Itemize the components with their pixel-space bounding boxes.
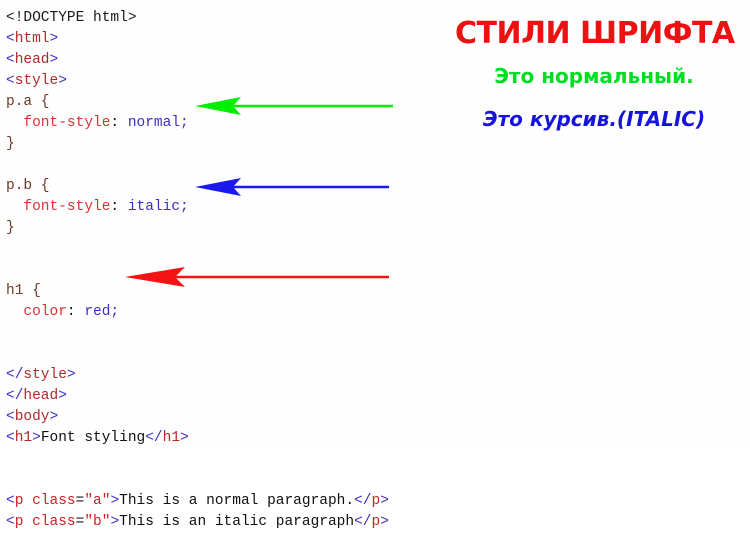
angle-close-icon: > bbox=[110, 493, 119, 509]
code-line: <style> bbox=[6, 71, 440, 92]
code-line: h1 { bbox=[6, 281, 440, 302]
css-selector: p.b { bbox=[6, 178, 50, 194]
screenshot-root: <!DOCTYPE html> <html> <head> <style> p.… bbox=[0, 0, 750, 450]
blank-line bbox=[6, 470, 440, 491]
blank-line bbox=[6, 344, 440, 365]
code-line: color: red; bbox=[6, 302, 440, 323]
code-line: <head> bbox=[6, 50, 440, 71]
angle-open-close-icon: </ bbox=[6, 367, 23, 383]
attribute-name: class bbox=[32, 493, 76, 509]
indent bbox=[6, 304, 23, 320]
angle-close-icon: > bbox=[380, 493, 389, 509]
preview-paragraph-normal: Это нормальный. bbox=[455, 64, 733, 88]
element-text: Font styling bbox=[41, 430, 145, 446]
space bbox=[23, 493, 32, 509]
code-line: p.a { bbox=[6, 92, 440, 113]
colon: : bbox=[110, 199, 127, 215]
angle-close-icon: > bbox=[50, 409, 59, 425]
rendered-preview: СТИЛИ ШРИФТА Это нормальный. Это курсив.… bbox=[455, 0, 750, 450]
equals: = bbox=[76, 493, 85, 509]
attribute-name: class bbox=[32, 514, 76, 530]
code-line: font-style: normal; bbox=[6, 113, 440, 134]
angle-open-close-icon: </ bbox=[354, 514, 371, 530]
element-text: This is a normal paragraph. bbox=[119, 493, 354, 509]
css-value: red; bbox=[84, 304, 119, 320]
tag-name: html bbox=[15, 31, 50, 47]
css-property: color bbox=[23, 304, 67, 320]
code-line: } bbox=[6, 134, 440, 155]
angle-open-icon: < bbox=[6, 430, 15, 446]
tag-name: h1 bbox=[163, 430, 180, 446]
angle-open-icon: < bbox=[6, 52, 15, 68]
css-property: font-style bbox=[23, 199, 110, 215]
tag-name: body bbox=[15, 409, 50, 425]
preview-paragraph-italic: Это курсив.(ITALIC) bbox=[455, 107, 733, 131]
angle-close-icon: > bbox=[50, 31, 59, 47]
blank-line bbox=[6, 323, 440, 344]
css-value: normal; bbox=[128, 115, 189, 131]
angle-close-icon: > bbox=[380, 514, 389, 530]
tag-name: p bbox=[15, 493, 24, 509]
code-line: <h1>Font styling</h1> bbox=[6, 428, 440, 449]
colon: : bbox=[67, 304, 84, 320]
tag-name: p bbox=[372, 493, 381, 509]
code-line: font-style: italic; bbox=[6, 197, 440, 218]
equals: = bbox=[76, 514, 85, 530]
blank-line bbox=[6, 260, 440, 281]
css-selector: h1 { bbox=[6, 283, 41, 299]
element-text: This is an italic paragraph bbox=[119, 514, 354, 530]
angle-open-icon: < bbox=[6, 73, 15, 89]
blank-line bbox=[6, 155, 440, 176]
code-line: <!DOCTYPE html> bbox=[6, 8, 440, 29]
code-line: } bbox=[6, 218, 440, 239]
indent bbox=[6, 199, 23, 215]
colon: : bbox=[110, 115, 127, 131]
tag-name: head bbox=[23, 388, 58, 404]
tag-name: h1 bbox=[15, 430, 32, 446]
angle-close-icon: > bbox=[180, 430, 189, 446]
angle-close-icon: > bbox=[32, 430, 41, 446]
attribute-value: "b" bbox=[84, 514, 110, 530]
code-listing[interactable]: <!DOCTYPE html> <html> <head> <style> p.… bbox=[0, 0, 440, 450]
brace-close: } bbox=[6, 136, 15, 152]
code-line: <html> bbox=[6, 29, 440, 50]
angle-open-close-icon: </ bbox=[6, 388, 23, 404]
angle-close-icon: > bbox=[110, 514, 119, 530]
code-line: <p class="a">This is a normal paragraph.… bbox=[6, 491, 440, 512]
angle-open-icon: < bbox=[6, 514, 15, 530]
space bbox=[23, 514, 32, 530]
blank-line bbox=[6, 239, 440, 260]
tag-name: style bbox=[15, 73, 59, 89]
angle-open-icon: < bbox=[6, 409, 15, 425]
css-value: italic; bbox=[128, 199, 189, 215]
tag-name: head bbox=[15, 52, 50, 68]
indent bbox=[6, 115, 23, 131]
angle-open-close-icon: </ bbox=[354, 493, 371, 509]
tag-name: p bbox=[15, 514, 24, 530]
angle-open-close-icon: </ bbox=[145, 430, 162, 446]
angle-close-icon: > bbox=[67, 367, 76, 383]
preview-heading: СТИЛИ ШРИФТА bbox=[455, 16, 733, 51]
brace-close: } bbox=[6, 220, 15, 236]
attribute-value: "a" bbox=[84, 493, 110, 509]
css-selector: p.a { bbox=[6, 94, 50, 110]
angle-open-icon: < bbox=[6, 31, 15, 47]
code-line: <body> bbox=[6, 407, 440, 428]
css-property: font-style bbox=[23, 115, 110, 131]
blank-line bbox=[6, 449, 440, 470]
doctype-token: <!DOCTYPE html> bbox=[6, 10, 137, 26]
angle-open-icon: < bbox=[6, 493, 15, 509]
angle-close-icon: > bbox=[50, 52, 59, 68]
code-line: p.b { bbox=[6, 176, 440, 197]
angle-close-icon: > bbox=[58, 388, 67, 404]
code-line: <p class="b">This is an italic paragraph… bbox=[6, 512, 440, 533]
code-line: </style> bbox=[6, 365, 440, 386]
code-line: </head> bbox=[6, 386, 440, 407]
tag-name: style bbox=[23, 367, 67, 383]
angle-close-icon: > bbox=[58, 73, 67, 89]
tag-name: p bbox=[372, 514, 381, 530]
